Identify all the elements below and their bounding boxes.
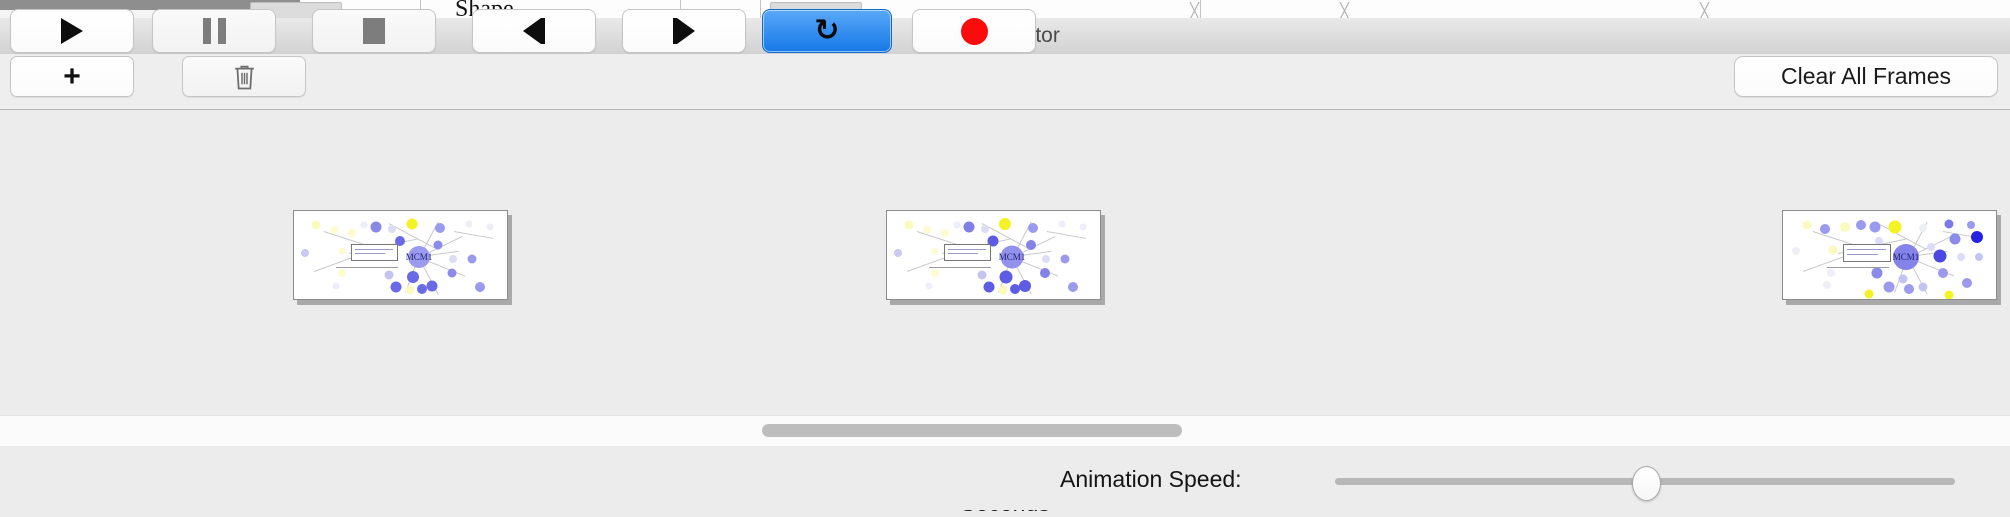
hub-node-label: MCM1 bbox=[1893, 252, 1920, 262]
chevron-icon: ╳ bbox=[1190, 2, 1199, 18]
skip-next-icon bbox=[673, 18, 695, 44]
animation-speed-label: Animation Speed: bbox=[1060, 466, 1242, 493]
timeline-panel[interactable]: MCM1 bbox=[0, 110, 2010, 410]
timeline-frame[interactable]: MCM1 bbox=[886, 210, 1101, 300]
animation-speed-slider-thumb[interactable] bbox=[1632, 466, 1661, 501]
frame-thumbnail: MCM1 bbox=[1782, 210, 1997, 300]
chevron-icon: ╳ bbox=[1700, 2, 1709, 18]
hub-node-label: MCM1 bbox=[999, 252, 1026, 262]
play-button[interactable] bbox=[10, 9, 134, 53]
previous-frame-button[interactable] bbox=[472, 9, 596, 53]
clear-all-frames-label: Clear All Frames bbox=[1781, 63, 1951, 90]
node-tooltip bbox=[351, 244, 398, 261]
timeline-frame[interactable]: MCM1 bbox=[1782, 210, 1997, 300]
skip-previous-icon bbox=[523, 18, 545, 44]
node-tooltip bbox=[944, 244, 991, 261]
frame-thumbnail: MCM1 bbox=[293, 210, 508, 300]
add-frame-button[interactable]: + bbox=[10, 56, 134, 97]
stop-icon bbox=[363, 18, 385, 44]
stop-button[interactable] bbox=[312, 9, 436, 53]
network-graph-preview: MCM1 bbox=[294, 211, 507, 299]
trash-icon bbox=[232, 63, 257, 91]
clear-all-frames-button[interactable]: Clear All Frames bbox=[1734, 56, 1998, 97]
timeline-scrollbar-thumb[interactable] bbox=[762, 424, 1182, 437]
pause-button[interactable] bbox=[152, 9, 276, 53]
frame-thumbnail: MCM1 bbox=[886, 210, 1101, 300]
hub-node-label: MCM1 bbox=[406, 252, 433, 262]
chevron-icon: ╳ bbox=[1340, 2, 1349, 18]
network-graph-preview: MCM1 bbox=[1783, 211, 1996, 299]
next-frame-button[interactable] bbox=[622, 9, 746, 53]
background-divider bbox=[1200, 0, 1201, 18]
loop-button[interactable]: ↻ bbox=[762, 9, 892, 53]
record-button[interactable] bbox=[912, 9, 1036, 53]
node-tooltip bbox=[1843, 244, 1891, 262]
loop-icon: ↻ bbox=[814, 16, 839, 46]
delete-frame-button[interactable] bbox=[182, 56, 306, 97]
play-icon bbox=[61, 18, 83, 44]
plus-icon: + bbox=[63, 62, 81, 92]
cyanimator-window: Shape ╳ ╳ ╳ CyAnimator + Clear All Frame… bbox=[0, 0, 2010, 510]
record-icon bbox=[961, 18, 988, 45]
timeline-frame[interactable]: MCM1 bbox=[293, 210, 508, 300]
background-divider bbox=[760, 0, 761, 18]
pause-icon bbox=[203, 18, 226, 44]
network-graph-preview: MCM1 bbox=[887, 211, 1100, 299]
